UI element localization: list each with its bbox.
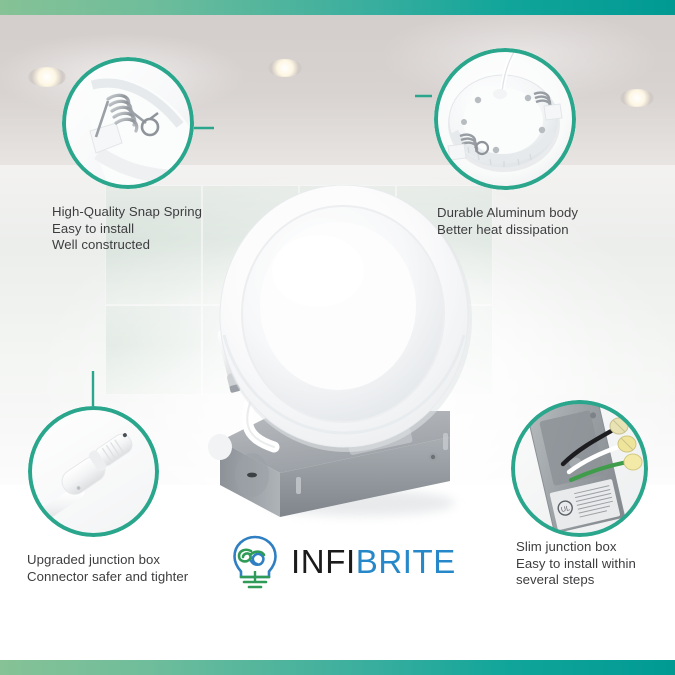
label-aluminum-body: Durable Aluminum body Better heat dissip… [437, 205, 657, 238]
label-junction-connector: Upgraded junction box Connector safer an… [27, 552, 242, 585]
logo-text-secondary: BRITE [356, 543, 456, 580]
aluminum-body-photo [434, 48, 576, 190]
logo-text-primary: INFI [291, 543, 356, 580]
logo-wordmark: INFIBRITE [291, 543, 456, 581]
infographic-canvas: High-Quality Snap Spring Easy to install… [0, 0, 675, 675]
snap-spring-photo [62, 57, 194, 189]
label-snap-spring: High-Quality Snap Spring Easy to install… [52, 204, 267, 254]
label-slim-junction-box: Slim junction box Easy to install within… [516, 539, 675, 589]
callout-junction-connector[interactable] [28, 406, 159, 537]
top-gradient-bar [0, 0, 675, 15]
callout-snap-spring[interactable] [62, 57, 194, 189]
connector-photo [28, 406, 159, 537]
callout-slim-junction-box[interactable]: UL [511, 400, 648, 537]
lightbulb-infinity-icon [228, 533, 282, 591]
bottom-gradient-bar [0, 660, 675, 675]
callout-aluminum-body[interactable] [434, 48, 576, 190]
junction-box-photo: UL [511, 400, 648, 537]
brand-logo[interactable]: INFIBRITE [228, 531, 476, 593]
